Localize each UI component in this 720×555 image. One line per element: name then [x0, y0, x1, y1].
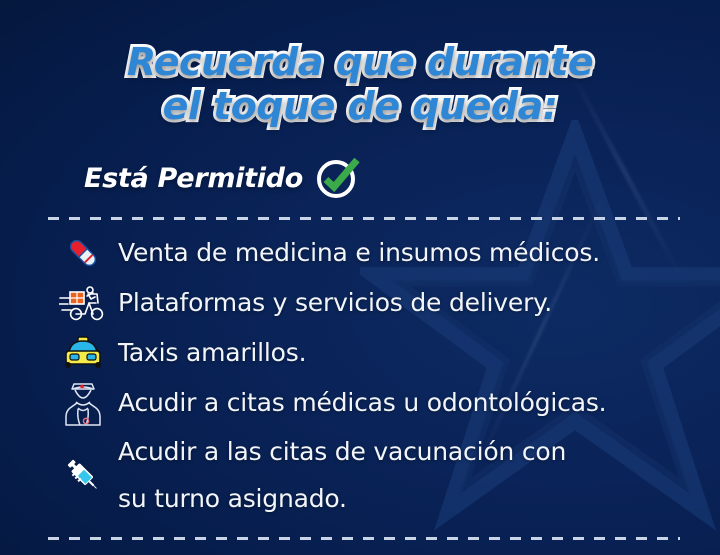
allowed-heading: Está Permitido [84, 158, 361, 200]
list-item: Acudir a las citas de vacunación con su … [48, 428, 696, 522]
list-item: Venta de medicina e insumos médicos. [48, 228, 696, 278]
delivery-scooter-icon [48, 278, 118, 328]
title-line-1: Recuerda que durante [0, 40, 720, 84]
green-check-circle-icon [315, 154, 361, 200]
list-item-label: Plataformas y servicios de delivery. [118, 278, 696, 328]
poster-canvas: Recuerda que durante el toque de queda: … [0, 0, 720, 555]
list-item-label: Taxis amarillos. [118, 328, 696, 378]
poster-title: Recuerda que durante el toque de queda: [0, 40, 720, 128]
list-item-label: Venta de medicina e insumos médicos. [118, 228, 696, 278]
yellow-taxi-icon [48, 328, 118, 378]
syringe-icon [48, 428, 118, 522]
list-item: Taxis amarillos. [48, 328, 696, 378]
list-item: Plataformas y servicios de delivery. [48, 278, 696, 328]
allowed-heading-label: Está Permitido [84, 164, 303, 194]
allowed-activities-list: Venta de medicina e insumos médicos. [48, 228, 696, 522]
list-item-label: Acudir a citas médicas u odontológicas. [118, 378, 696, 428]
dashed-divider-top [48, 217, 680, 220]
list-item-label: Acudir a las citas de vacunación con su … [118, 428, 696, 522]
pill-capsule-icon [48, 228, 118, 278]
list-item: Acudir a citas médicas u odontológicas. [48, 378, 696, 428]
title-line-2: el toque de queda: [0, 84, 720, 128]
dashed-divider-bottom [48, 537, 680, 540]
nurse-icon [48, 378, 118, 428]
